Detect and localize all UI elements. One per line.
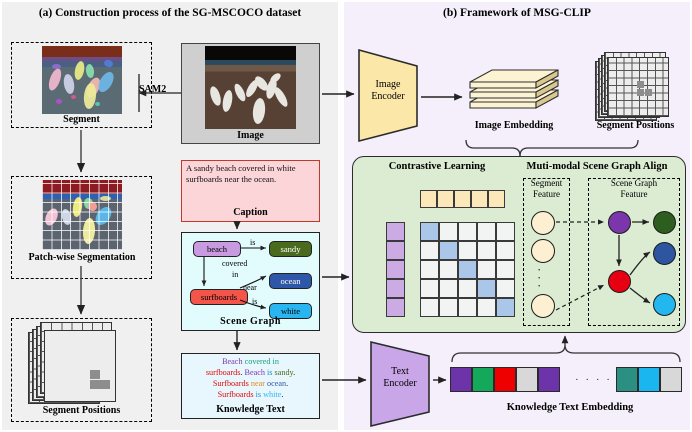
matrix-cell — [420, 260, 439, 279]
caption-text: A sandy beach covered in white surfboard… — [186, 163, 316, 184]
matrix-cell — [496, 222, 515, 241]
sg-edge-label-covered: covered — [222, 259, 247, 268]
scene-graph-feature-label-line2: Feature — [621, 189, 648, 199]
matrix-cell — [458, 279, 477, 298]
matrix-cell — [477, 298, 496, 317]
matrix-cell — [439, 279, 458, 298]
matrix-row-header-4 — [386, 279, 405, 298]
matrix-cell — [477, 241, 496, 260]
sam2-label: SAM2 — [139, 84, 166, 95]
segment-image — [42, 46, 122, 114]
matrix-col-header-5 — [488, 190, 505, 208]
segment-feature-dot-1 — [531, 211, 555, 235]
text-encoder-label-line2: Encoder — [383, 378, 416, 389]
image-label: Image — [181, 130, 320, 141]
matrix-col-header-3 — [454, 190, 471, 208]
segment-feature-label-line1: Segment — [531, 178, 563, 188]
segment-positions-cube-right — [595, 49, 681, 121]
kte-block-2 — [472, 367, 494, 392]
text-encoder-label-line1: Text — [391, 366, 409, 377]
matrix-cell — [496, 241, 515, 260]
panel-a-title: (a) Construction process of the SG-MSCOC… — [2, 7, 338, 19]
sg-feature-dot-green — [653, 211, 676, 234]
sg-feature-dot-purple — [608, 211, 631, 234]
matrix-cell — [458, 298, 477, 317]
segment-positions-label-right: Segment Positions — [583, 120, 688, 131]
knowledge-text-label: Knowledge Text — [181, 404, 320, 415]
matrix-col-header-2 — [437, 190, 454, 208]
kte-block-4 — [516, 367, 538, 392]
matrix-cell — [477, 260, 496, 279]
figure-root: (a) Construction process of the SG-MSCOC… — [0, 0, 692, 432]
matrix-cell — [420, 222, 439, 241]
sg-edge-label-near: near — [243, 283, 257, 292]
matrix-cell — [420, 298, 439, 317]
knowledge-text-line-4: Surfboards is white. — [182, 390, 319, 399]
sg-edge-label-in: in — [232, 270, 238, 279]
source-image — [205, 46, 296, 129]
matrix-cell — [477, 279, 496, 298]
caption-label: Caption — [181, 207, 320, 218]
image-encoder-label: Image Encoder — [357, 79, 419, 103]
segment-feature-dot-2 — [531, 239, 555, 263]
text-encoder-label: Text Encoder — [369, 366, 431, 390]
segment-positions-label: Segment Positions — [11, 405, 152, 416]
matrix-cell — [496, 260, 515, 279]
scene-graph-feature-label-line1: Scene Graph — [611, 178, 657, 188]
multimodal-align-label: Muti-modal Scene Graph Align — [508, 161, 686, 172]
knowledge-text-line-2: surfboards. Beach is sandy. — [182, 368, 319, 377]
sg-feature-dot-blue — [653, 242, 676, 265]
matrix-cell — [458, 260, 477, 279]
scene-graph-label: Scene Graph — [181, 316, 320, 327]
image-embedding-stack — [466, 60, 561, 118]
segment-feature-ellipsis: ··· — [537, 266, 541, 290]
matrix-cell — [439, 298, 458, 317]
matrix-row-header-3 — [386, 260, 405, 279]
image-encoder-label-line2: Encoder — [371, 91, 404, 102]
sg-node-surfboards: surfboards — [190, 289, 248, 305]
sg-edge-label-is-1: is — [250, 238, 255, 247]
kte-block-3 — [494, 367, 516, 392]
segment-feature-dot-3 — [531, 294, 555, 318]
matrix-cell — [496, 298, 515, 317]
matrix-col-header-4 — [471, 190, 488, 208]
kte-block-8 — [660, 367, 682, 392]
knowledge-text-line-3: Surfboards near ocean. — [182, 379, 319, 388]
sg-node-ocean: ocean — [269, 273, 312, 289]
matrix-cell — [458, 222, 477, 241]
segment-feature-label-line2: Feature — [533, 189, 560, 199]
patchwise-label: Patch-wise Segmentation — [6, 252, 158, 263]
knowledge-text-line-1: Beach covered in — [182, 357, 319, 366]
kte-block-1 — [450, 367, 472, 392]
sg-node-sandy: sandy — [269, 241, 312, 257]
matrix-cell — [439, 260, 458, 279]
matrix-row-header-5 — [386, 298, 405, 317]
kte-block-6 — [616, 367, 638, 392]
scene-graph-feature-label: Scene Graph Feature — [588, 178, 680, 200]
segment-feature-label: Segment Feature — [523, 178, 570, 200]
matrix-cell — [420, 241, 439, 260]
contrastive-learning-label: Contrastive Learning — [357, 161, 517, 172]
sg-node-beach: beach — [193, 241, 241, 257]
segment-label: Segment — [11, 114, 152, 125]
matrix-cell — [458, 241, 477, 260]
sg-edge-label-is-2: is — [252, 297, 257, 306]
image-embedding-label: Image Embedding — [459, 120, 569, 131]
knowledge-text-embedding-label: Knowledge Text Embedding — [470, 402, 670, 413]
matrix-row-header-1 — [386, 222, 405, 241]
image-encoder-label-line1: Image — [376, 79, 401, 90]
sg-feature-dot-red — [608, 270, 631, 293]
kte-block-5 — [538, 367, 560, 392]
matrix-row-header-2 — [386, 241, 405, 260]
patchwise-image — [42, 180, 122, 250]
panel-b-title: (b) Framework of MSG-CLIP — [344, 7, 690, 19]
sg-feature-dot-cyan — [653, 293, 676, 316]
segment-positions-cube — [28, 322, 148, 410]
kte-block-7 — [638, 367, 660, 392]
matrix-cell — [477, 222, 496, 241]
matrix-col-header-1 — [420, 190, 437, 208]
matrix-cell — [420, 279, 439, 298]
matrix-cell — [496, 279, 515, 298]
matrix-cell — [439, 222, 458, 241]
matrix-cell — [439, 241, 458, 260]
